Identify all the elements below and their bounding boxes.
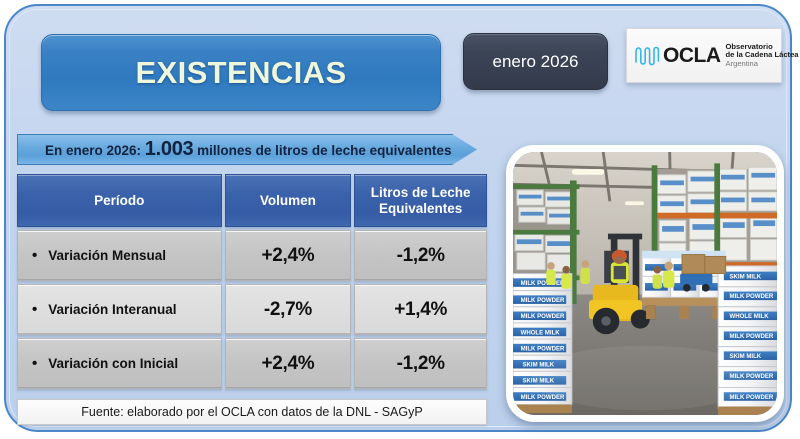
row-litros-value: -1,2%	[354, 338, 487, 389]
row-label-cell: • Variación Mensual	[17, 230, 222, 281]
logo-tagline-line3: Argentina	[726, 60, 799, 68]
row-label: Variación Interanual	[48, 302, 176, 317]
svg-text:WHOLE MILK: WHOLE MILK	[521, 330, 561, 336]
slide-root: EXISTENCIAS enero 2026 OCLA Observatorio…	[0, 0, 800, 439]
summary-banner: En enero 2026: 1.003 millones de litros …	[17, 134, 477, 165]
table-header-litros: Litros de Leche Equivalentes	[354, 174, 487, 227]
date-badge-label: enero 2026	[492, 52, 578, 72]
table-header-volumen: Volumen	[225, 174, 352, 227]
svg-text:MILK POWDER: MILK POWDER	[521, 281, 565, 287]
table-row: • Variación Interanual -2,7% +1,4%	[17, 284, 487, 335]
row-volumen-value: -2,7%	[225, 284, 352, 335]
table-row: • Variación con Inicial +2,4% -1,2%	[17, 338, 487, 389]
summary-suffix: millones de litros de leche equivalentes	[193, 143, 451, 158]
row-label-cell: • Variación con Inicial	[17, 338, 222, 389]
svg-text:MILK POWDER: MILK POWDER	[521, 298, 565, 304]
svg-text:MILK POWDER: MILK POWDER	[521, 314, 565, 320]
logo-tagline: Observatorio de la Cadena Láctea Argenti…	[726, 43, 799, 68]
table-row: • Variación Mensual +2,4% -1,2%	[17, 230, 487, 281]
source-footer: Fuente: elaborado por el OCLA con datos …	[17, 399, 487, 425]
summary-prefix: En enero 2026:	[45, 143, 145, 158]
wave-icon	[633, 44, 661, 68]
date-badge: enero 2026	[463, 33, 608, 90]
svg-text:SKIM MILK: SKIM MILK	[730, 274, 762, 280]
summary-banner-text: En enero 2026: 1.003 millones de litros …	[18, 138, 451, 161]
summary-value: 1.003	[145, 138, 194, 160]
source-footer-text: Fuente: elaborado por el OCLA con datos …	[81, 405, 422, 419]
table-header-row: Período Volumen Litros de Leche Equivale…	[17, 174, 487, 227]
row-label: Variación con Inicial	[48, 356, 178, 371]
variations-table: Período Volumen Litros de Leche Equivale…	[17, 174, 487, 392]
page-title: EXISTENCIAS	[41, 34, 441, 111]
svg-text:MILK POWDER: MILK POWDER	[730, 294, 774, 300]
page-title-label: EXISTENCIAS	[135, 55, 346, 91]
ocla-logo: OCLA Observatorio de la Cadena Láctea Ar…	[626, 28, 782, 83]
svg-text:WHOLE MILK: WHOLE MILK	[730, 314, 770, 320]
row-litros-value: +1,4%	[354, 284, 487, 335]
table-header-periodo: Período	[17, 174, 222, 227]
row-volumen-value: +2,4%	[225, 338, 352, 389]
row-label-cell: • Variación Interanual	[17, 284, 222, 335]
svg-text:MILK POWDER: MILK POWDER	[730, 334, 774, 340]
warehouse-photo-frame: MILK POWDER MILK POWDER MILK POWDER WHOL…	[506, 145, 784, 422]
logo-wordmark: OCLA	[663, 45, 721, 66]
row-volumen-value: +2,4%	[225, 230, 352, 281]
svg-text:MILK POWDER: MILK POWDER	[521, 346, 565, 352]
row-label: Variación Mensual	[48, 248, 166, 263]
warehouse-photo: MILK POWDER MILK POWDER MILK POWDER WHOL…	[513, 152, 777, 415]
row-litros-value: -1,2%	[354, 230, 487, 281]
